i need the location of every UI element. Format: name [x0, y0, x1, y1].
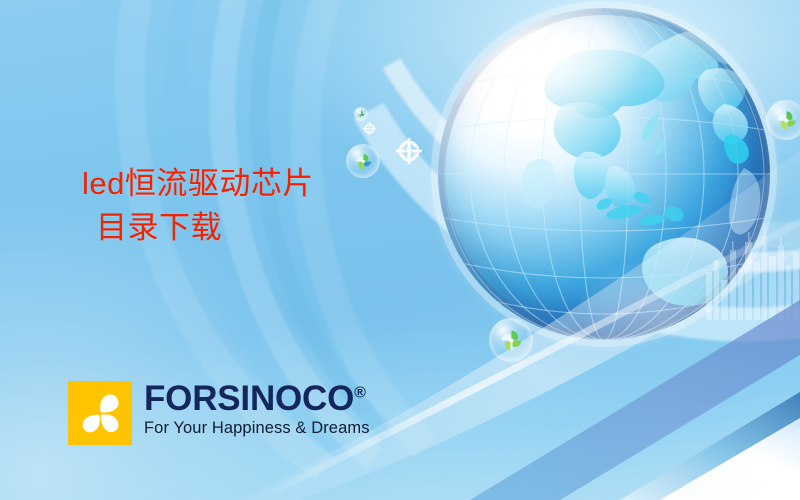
brand-wordmark: FORSINOCO® [144, 382, 370, 416]
bubble-pinwheel-edge [766, 100, 800, 140]
world-globe [438, 8, 770, 340]
headline-line-2: 目录下载 [82, 206, 412, 250]
headline-block: led恒流驱动芯片 目录下载 [82, 162, 412, 250]
brand-logo-lockup[interactable]: FORSINOCO® For Your Happiness & Dreams [68, 381, 370, 445]
four-petal-flower-icon [74, 387, 126, 439]
headline-line-1: led恒流驱动芯片 [82, 166, 314, 201]
globe-continents-and-grid [438, 8, 770, 340]
brand-wordmark-text: FORSINOCO [144, 379, 354, 418]
registered-trademark-symbol: ® [354, 384, 366, 401]
bubble-pinwheel-large [489, 318, 533, 362]
forsinoco-pinwheel-logo-icon [68, 381, 132, 445]
globe-sphere [438, 8, 770, 340]
brand-text-block: FORSINOCO® For Your Happiness & Dreams [144, 381, 370, 438]
bubble-pinwheel-small [354, 107, 368, 121]
brand-tagline: For Your Happiness & Dreams [144, 420, 370, 437]
promo-banner: led恒流驱动芯片 目录下载 FORSINOCO® For Your Happi… [0, 0, 800, 500]
pinwheel-icon [499, 328, 524, 353]
pinwheel-icon [775, 109, 798, 132]
pinwheel-icon [357, 110, 365, 118]
